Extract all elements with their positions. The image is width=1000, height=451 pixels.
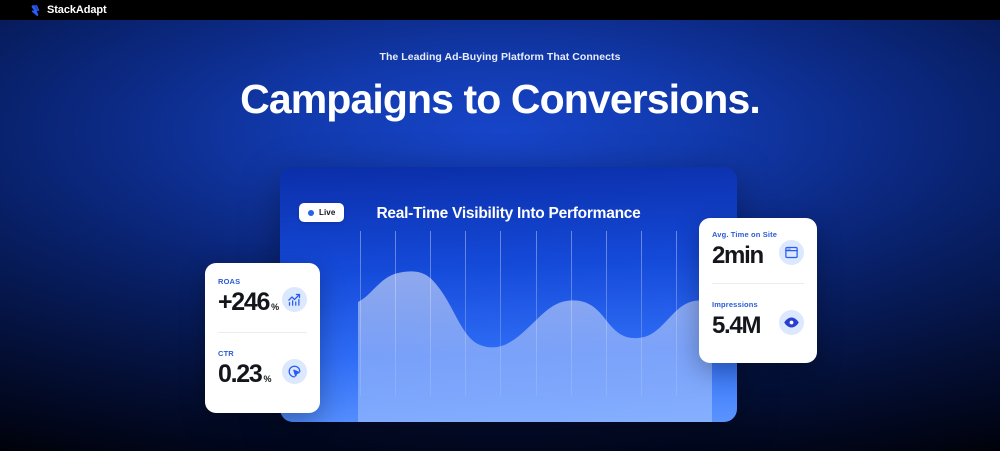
metric-label: CTR <box>218 349 307 358</box>
metric-divider <box>712 283 804 284</box>
metric-value: 2min <box>712 243 763 268</box>
metric-value-group: +246 % <box>218 289 279 315</box>
metric-divider <box>218 332 307 333</box>
browser-window-glyph <box>784 245 799 260</box>
metric-value: 0.23 <box>218 361 261 387</box>
chart-gridline <box>395 231 396 396</box>
chart-gridline <box>500 231 501 396</box>
metric-ctr: CTR 0.23 % <box>218 349 307 387</box>
stackadapt-logo-icon <box>29 4 42 17</box>
metric-value-group: 5.4M <box>712 313 762 338</box>
metric-value-group: 0.23 % <box>218 361 271 387</box>
hero-section: The Leading Ad-Buying Platform That Conn… <box>0 20 1000 451</box>
eye-icon <box>779 310 804 335</box>
dashboard-title: Real-Time Visibility Into Performance <box>280 205 737 223</box>
brand-name-label: StackAdapt <box>47 5 107 16</box>
chart-gridline <box>536 231 537 396</box>
metric-impressions: Impressions 5.4M <box>712 300 804 338</box>
metric-unit: % <box>263 375 271 384</box>
chart-trend-up-icon <box>282 287 307 312</box>
cursor-click-icon <box>282 359 307 384</box>
chart-gridline <box>606 231 607 396</box>
metric-value: 5.4M <box>712 313 760 338</box>
hero-headline: Campaigns to Conversions. <box>0 76 1000 123</box>
eye-glyph <box>784 315 799 330</box>
metric-unit: % <box>271 303 279 312</box>
chart-gridline <box>641 231 642 396</box>
metric-value-group: 2min <box>712 243 765 268</box>
metric-label: Avg. Time on Site <box>712 230 804 239</box>
metric-label: Impressions <box>712 300 804 309</box>
chart-gridline <box>360 231 361 396</box>
metric-roas: ROAS +246 % <box>218 277 307 315</box>
brand-logo[interactable]: StackAdapt <box>29 4 107 17</box>
metric-label: ROAS <box>218 277 307 286</box>
metrics-card-right: Avg. Time on Site 2min <box>699 218 817 363</box>
metrics-card-left: ROAS +246 % <box>205 263 320 413</box>
metric-avg-time-on-site: Avg. Time on Site 2min <box>712 230 804 268</box>
chart-gridline <box>465 231 466 396</box>
chart-gridline <box>430 231 431 396</box>
chart-gridline <box>571 231 572 396</box>
hero-eyebrow: The Leading Ad-Buying Platform That Conn… <box>0 51 1000 63</box>
browser-window-icon <box>779 240 804 265</box>
page-root: StackAdapt The Leading Ad-Buying Platfor… <box>0 0 1000 451</box>
chart-gridline <box>676 231 677 396</box>
dashboard-preview-card: Live Real-Time Visibility Into Performan… <box>280 167 737 422</box>
metric-value: +246 <box>218 289 269 315</box>
top-app-bar: StackAdapt <box>0 0 1000 20</box>
chart-trend-up-glyph <box>287 292 302 307</box>
cursor-click-glyph <box>287 364 302 379</box>
